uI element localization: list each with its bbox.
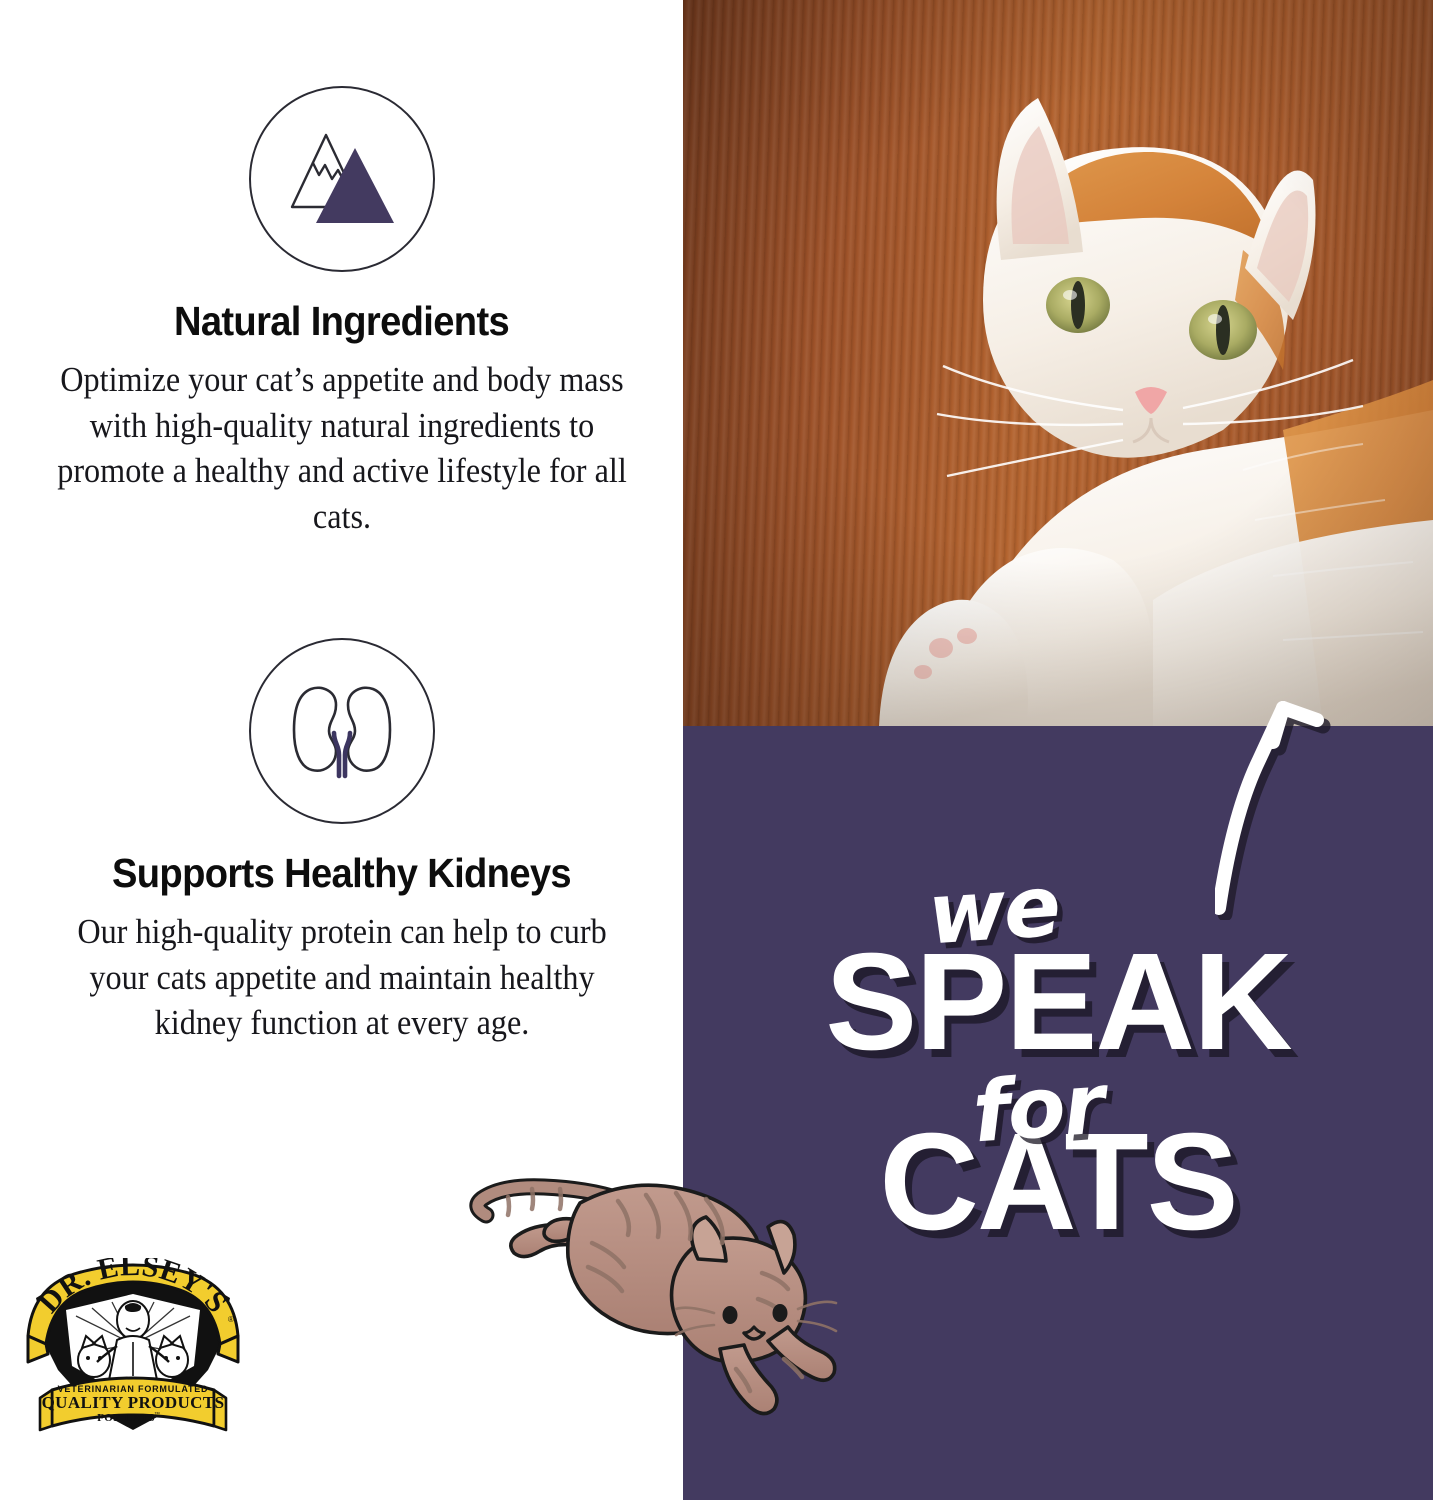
headline-line-we: we [925,864,1061,957]
logo-trademark-mark: ™ [154,1411,160,1418]
feature-title: Natural Ingredients [24,300,659,343]
logo-registered-mark: ® [228,1315,234,1324]
mountains-icon [249,86,435,272]
hero-cat-photo [683,0,1433,726]
jumping-cat-illustration [468,1163,848,1453]
feature-title: Supports Healthy Kidneys [24,852,659,895]
dr-elseys-logo: DR. ELSEY'S ® VETERINARIAN FORMULATED QU… [22,1258,244,1440]
feature-description: Our high-quality protein can help to cur… [56,909,626,1046]
feature-block-natural-ingredients: Natural Ingredients Optimize your cat’s … [0,86,683,539]
feature-description: Optimize your cat’s appetite and body ma… [56,357,626,539]
headline-line-for: for [970,1062,1105,1155]
headline-line-speak: SPEAK [683,938,1433,1066]
feature-block-healthy-kidneys: Supports Healthy Kidneys Our high-qualit… [0,638,683,1046]
photo-vignette [683,0,1433,726]
logo-ribbon-line-2: QUALITY PRODUCTS [42,1393,225,1412]
product-feature-page: Natural Ingredients Optimize your cat’s … [0,0,1433,1500]
logo-ribbon-line-3: FOR CATS [97,1412,155,1424]
kidneys-icon [249,638,435,824]
